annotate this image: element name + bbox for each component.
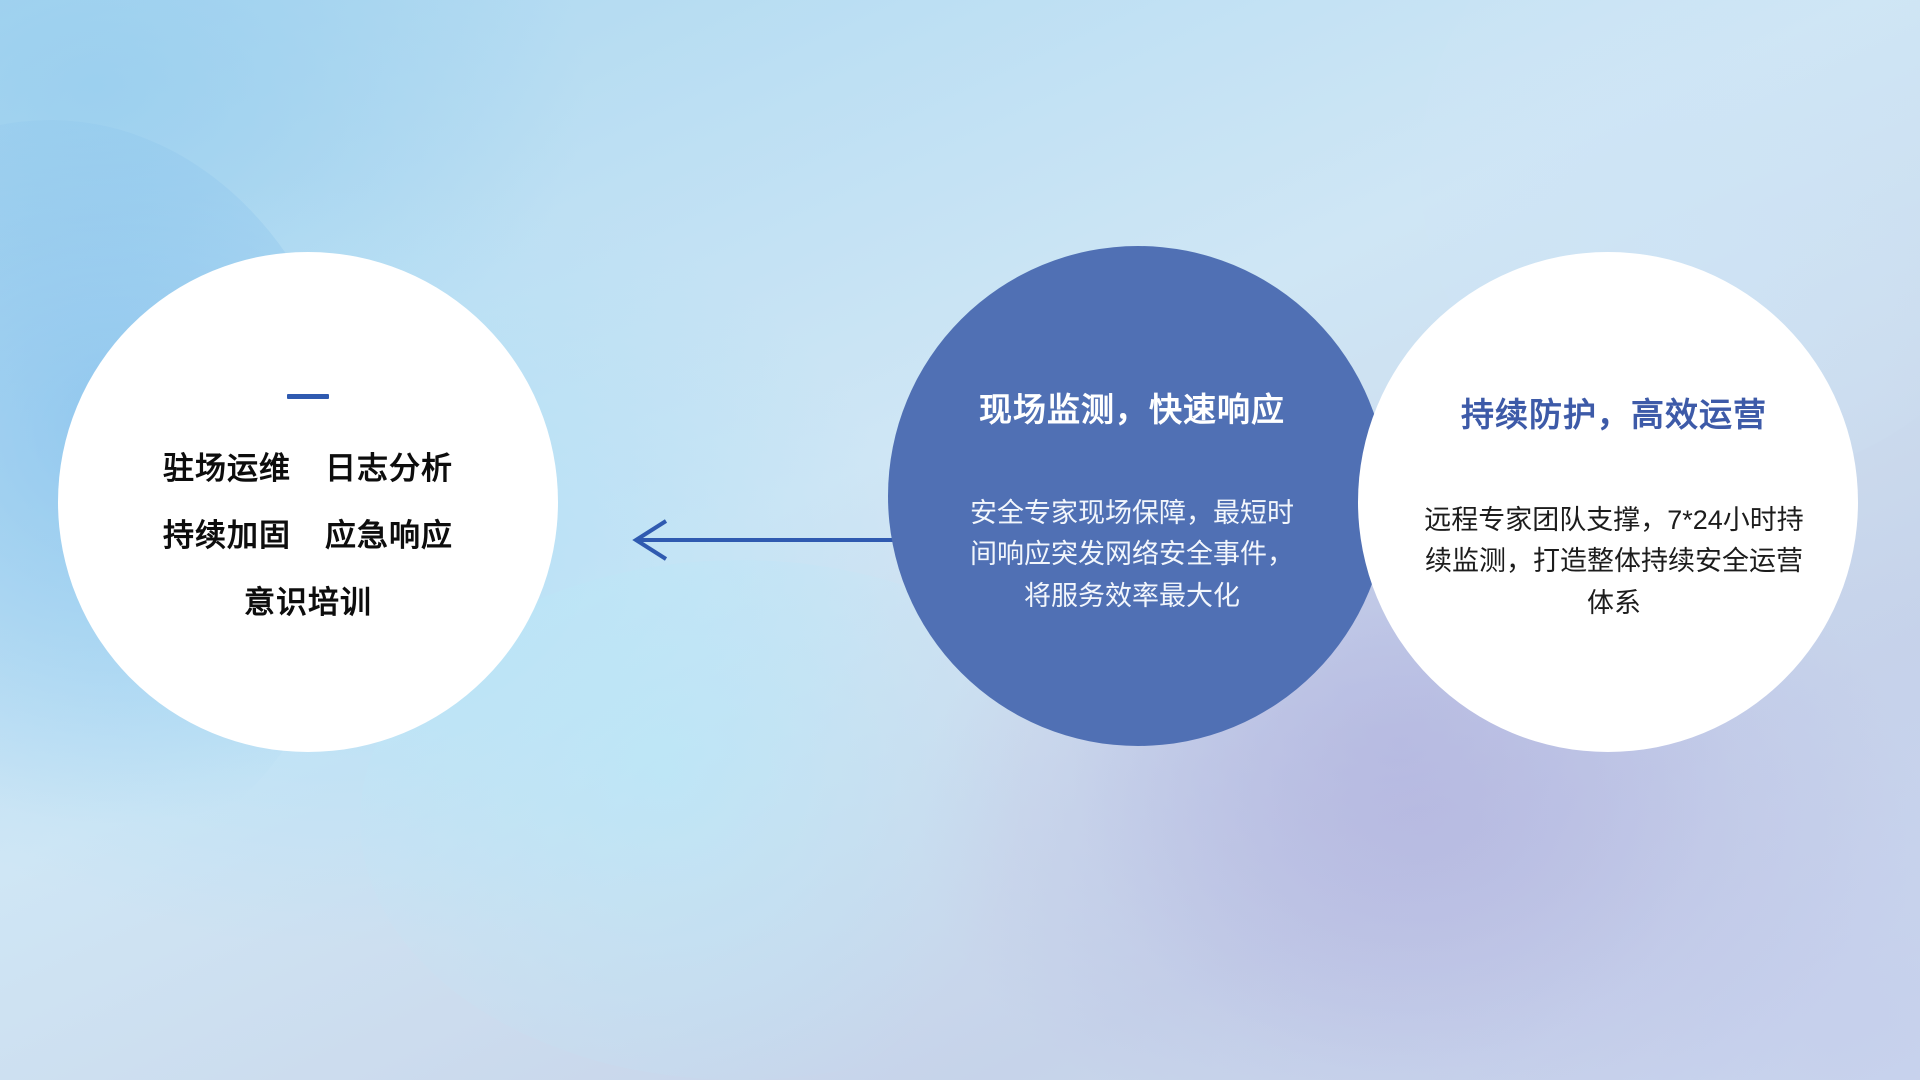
left-circle-content: 驻场运维 日志分析 持续加固 应急响应 意识培训 xyxy=(98,394,518,622)
capability-circle-right[interactable]: 持续防护，高效运营 远程专家团队支撑，7*24小时持续监测，打造整体持续安全运营… xyxy=(1358,252,1858,752)
tag-row: 驻场运维 日志分析 xyxy=(98,443,518,488)
tag-label: 日志分析 xyxy=(325,443,453,488)
tag-label: 意识培训 xyxy=(98,577,518,622)
middle-circle-body: 安全专家现场保障，最短时间响应突发网络安全事件，将服务效率最大化 xyxy=(967,493,1297,616)
capability-circle-left[interactable]: 驻场运维 日志分析 持续加固 应急响应 意识培训 xyxy=(58,252,558,752)
divider-dash-icon xyxy=(287,394,329,399)
tag-label: 驻场运维 xyxy=(163,443,291,488)
tag-row: 持续加固 应急响应 xyxy=(98,510,518,555)
capability-circle-middle[interactable]: 现场监测，快速响应 安全专家现场保障，最短时间响应突发网络安全事件，将服务效率最… xyxy=(888,246,1388,746)
right-circle-title: 持续防护，高效运营 xyxy=(1399,388,1829,436)
tag-label: 应急响应 xyxy=(325,510,453,555)
slide-canvas: 驻场运维 日志分析 持续加固 应急响应 意识培训 现场监测，快速响应 安全专家现… xyxy=(0,0,1920,1080)
middle-circle-content: 现场监测，快速响应 安全专家现场保障，最短时间响应突发网络安全事件，将服务效率最… xyxy=(932,383,1332,616)
right-circle-body: 远程专家团队支撑，7*24小时持续监测，打造整体持续安全运营体系 xyxy=(1414,500,1814,623)
right-circle-content: 持续防护，高效运营 远程专家团队支撑，7*24小时持续监测，打造整体持续安全运营… xyxy=(1399,388,1829,623)
middle-circle-title: 现场监测，快速响应 xyxy=(932,383,1332,431)
tag-label: 持续加固 xyxy=(163,510,291,555)
